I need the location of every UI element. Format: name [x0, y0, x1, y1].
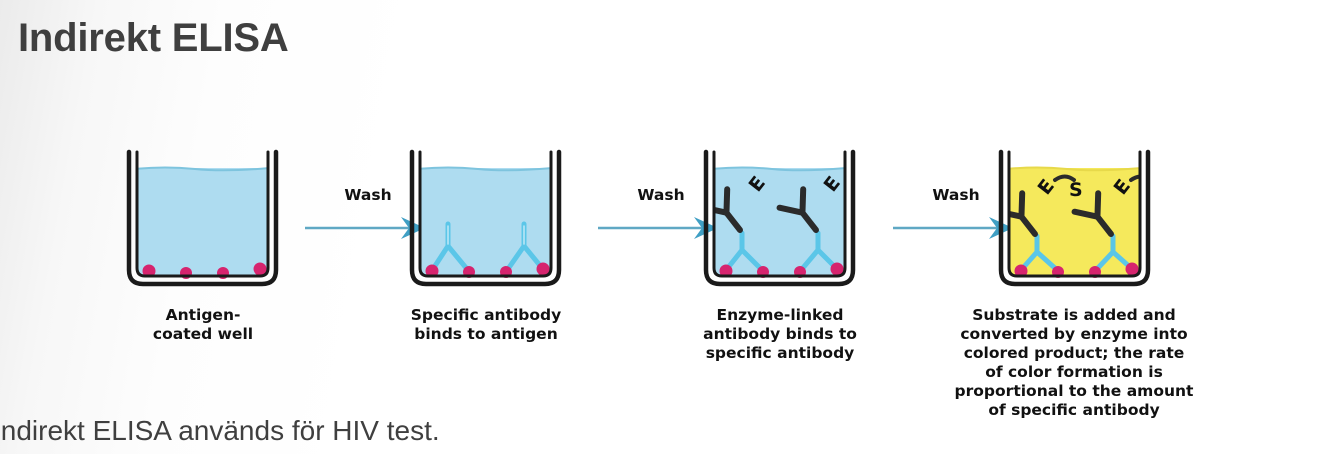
stage-3-caption: Enzyme-linked antibody binds to specific…	[670, 306, 890, 363]
slide-canvas: Indirekt ELISA	[0, 0, 1334, 454]
well-3: E E	[682, 138, 877, 298]
elisa-stage-4: E S E S	[977, 138, 1172, 298]
well-3-illustration: E E	[682, 138, 877, 298]
caption-line: Enzyme-linked	[670, 306, 890, 325]
elisa-stage-3: E E	[682, 138, 877, 298]
stage-2-caption: Specific antibody binds to antigen	[376, 306, 596, 344]
caption-line: antibody binds to	[670, 325, 890, 344]
caption-line: specific antibody	[670, 344, 890, 363]
well-2	[388, 138, 583, 298]
elisa-diagram: Antigen- coated well Wash	[105, 138, 1245, 413]
well-1-illustration	[105, 138, 300, 298]
well-1	[105, 138, 300, 298]
caption-line: proportional to the amount	[949, 382, 1199, 401]
stage-4-caption: Substrate is added and converted by enzy…	[949, 306, 1199, 419]
caption-line: coated well	[93, 325, 313, 344]
caption-line: Antigen-	[93, 306, 313, 325]
caption-line: Substrate is added and	[949, 306, 1199, 325]
caption-line: converted by enzyme into	[949, 325, 1199, 344]
stage-1-caption: Antigen- coated well	[93, 306, 313, 344]
page-title: Indirekt ELISA	[18, 16, 289, 61]
elisa-stage-1: Antigen- coated well	[105, 138, 300, 298]
caption-line: of specific antibody	[949, 401, 1199, 420]
caption-line: binds to antigen	[376, 325, 596, 344]
substrate-label: S	[1069, 179, 1083, 201]
caption-line: of color formation is	[949, 363, 1199, 382]
caption-line: Specific antibody	[376, 306, 596, 325]
elisa-stage-2: Specific antibody binds to antigen	[388, 138, 583, 298]
slide-body-text: Indirekt ELISA används för HIV test.	[0, 415, 440, 447]
well-4-illustration: E S E S	[977, 138, 1172, 298]
well-4: E S E S	[977, 138, 1172, 298]
caption-line: colored product; the rate	[949, 344, 1199, 363]
well-2-illustration	[388, 138, 583, 298]
